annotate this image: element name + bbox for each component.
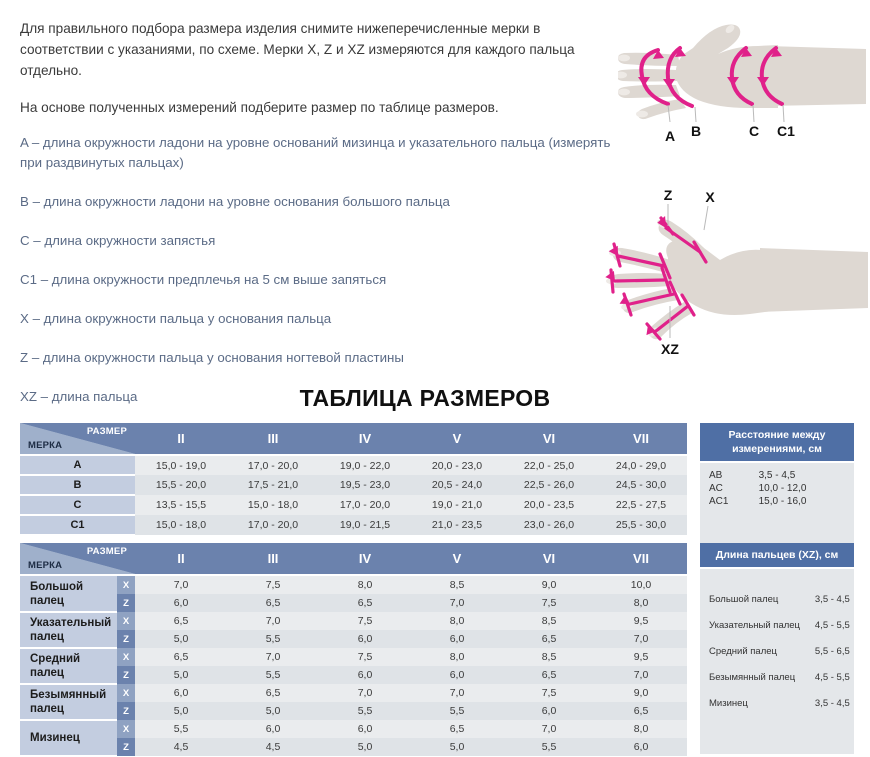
column-header-vi: VI — [503, 423, 595, 455]
diagram-label-c1: C1 — [777, 123, 795, 139]
cell-index-x-iv: 7,5 — [319, 612, 411, 630]
distance-between-measurements-panel: Расстояние между измерениями, см AB 3,5 … — [700, 423, 854, 545]
list-item: Безымянный палец 4,5 - 5,5 — [700, 664, 854, 690]
sublabel-z: Z — [117, 702, 135, 720]
finger-length-val-index: 4,5 - 5,5 — [811, 612, 854, 638]
row-label-a: A — [20, 455, 135, 475]
cell-thumb-x-v: 8,5 — [411, 575, 503, 594]
column-header-v: V — [411, 423, 503, 455]
list-item: AC1 15,0 - 16,0 — [700, 495, 854, 508]
diagram-label-c: C — [749, 123, 759, 139]
cell-middle-x-ii: 6,5 — [135, 648, 227, 666]
intro-paragraph-1: Для правильного подбора размера изделия … — [20, 18, 620, 81]
finger-length-panel-body: Большой палец 3,5 - 4,5 Указательный пал… — [700, 569, 854, 754]
sublabel-x: X — [117, 612, 135, 630]
corner-merka-label: МЕРКА — [28, 440, 62, 451]
hand-illustration-side-view — [618, 23, 866, 119]
distance-panel-body: AB 3,5 - 4,5 AC 10,0 - 12,0 AC1 15,0 - 1… — [700, 463, 854, 545]
column-header-iv: IV — [319, 423, 411, 455]
table-row: Мизинец X 5,5 6,0 6,0 6,5 7,0 8,0 — [20, 720, 687, 738]
row-label-middle: Средний палец — [20, 648, 117, 684]
cell-index-z-vii: 7,0 — [595, 630, 687, 648]
table-row: Z 5,0 5,0 5,5 5,5 6,0 6,5 — [20, 702, 687, 720]
finger-length-val-thumb: 3,5 - 4,5 — [811, 586, 854, 612]
distance-val-ac1: 15,0 - 16,0 — [755, 495, 854, 508]
row-label-c1: C1 — [20, 515, 135, 535]
cell-ring-z-iv: 5,5 — [319, 702, 411, 720]
cell-c-iv: 17,0 - 20,0 — [319, 495, 411, 515]
cell-thumb-z-iii: 6,5 — [227, 594, 319, 612]
cell-c-iii: 15,0 - 18,0 — [227, 495, 319, 515]
sublabel-z: Z — [117, 630, 135, 648]
cell-index-z-ii: 5,0 — [135, 630, 227, 648]
cell-b-v: 20,5 - 24,0 — [411, 475, 503, 495]
cell-thumb-x-vii: 10,0 — [595, 575, 687, 594]
cell-middle-z-v: 6,0 — [411, 666, 503, 684]
finger-length-key-ring: Безымянный палец — [700, 664, 811, 690]
cell-b-iii: 17,5 - 21,0 — [227, 475, 319, 495]
table-row: Z 4,5 4,5 5,0 5,0 5,5 6,0 — [20, 738, 687, 756]
cell-index-z-iv: 6,0 — [319, 630, 411, 648]
page-title: ТАБЛИЦА РАЗМЕРОВ — [0, 385, 860, 412]
diagram-label-b: B — [691, 123, 701, 139]
cell-middle-x-v: 8,0 — [411, 648, 503, 666]
cell-ring-x-vii: 9,0 — [595, 684, 687, 702]
cell-middle-x-vii: 9,5 — [595, 648, 687, 666]
column-header-vi: VI — [503, 543, 595, 575]
finger-length-val-ring: 4,5 - 5,5 — [811, 664, 854, 690]
cell-c1-vi: 23,0 - 26,0 — [503, 515, 595, 535]
table-row: Безымянный палец X 6,0 6,5 7,0 7,0 7,5 9… — [20, 684, 687, 702]
finger-length-val-pinky: 3,5 - 4,5 — [811, 690, 854, 716]
cell-middle-z-vi: 6,5 — [503, 666, 595, 684]
hand-diagram-circumference: A B C C1 — [618, 8, 868, 158]
definition-x: X – длина окружности пальца у основания … — [20, 309, 620, 329]
cell-c-v: 19,0 - 21,0 — [411, 495, 503, 515]
finger-length-key-index: Указательный палец — [700, 612, 811, 638]
cell-a-vii: 24,0 - 29,0 — [595, 455, 687, 475]
table-row: C1 15,0 - 18,0 17,0 - 20,0 19,0 - 21,5 2… — [20, 515, 687, 535]
list-item: Указательный палец 4,5 - 5,5 — [700, 612, 854, 638]
cell-ring-x-iv: 7,0 — [319, 684, 411, 702]
cell-c-vi: 20,0 - 23,5 — [503, 495, 595, 515]
row-label-thumb: Большой палец — [20, 575, 117, 612]
cell-thumb-z-iv: 6,5 — [319, 594, 411, 612]
finger-length-key-pinky: Мизинец — [700, 690, 811, 716]
finger-length-panel: Длина пальцев (XZ), см Большой палец 3,5… — [700, 543, 854, 754]
table-header-row: РАЗМЕР МЕРКА II III IV V VI VII — [20, 423, 687, 455]
cell-index-x-iii: 7,0 — [227, 612, 319, 630]
cell-middle-z-iii: 5,5 — [227, 666, 319, 684]
corner-size-label: РАЗМЕР — [87, 426, 127, 437]
table-row: Большой палец X 7,0 7,5 8,0 8,5 9,0 10,0 — [20, 575, 687, 594]
diagram-label-xz: XZ — [661, 341, 679, 357]
cell-pinky-z-iii: 4,5 — [227, 738, 319, 756]
cell-pinky-x-iv: 6,0 — [319, 720, 411, 738]
cell-pinky-x-v: 6,5 — [411, 720, 503, 738]
cell-ring-x-ii: 6,0 — [135, 684, 227, 702]
cell-pinky-z-ii: 4,5 — [135, 738, 227, 756]
sublabel-x: X — [117, 684, 135, 702]
table-header-row: РАЗМЕР МЕРКА II III IV V VI VII — [20, 543, 687, 575]
cell-ring-z-vii: 6,5 — [595, 702, 687, 720]
measurement-definitions-list: A – длина окружности ладони на уровне ос… — [20, 133, 620, 426]
hand-diagram-finger-lengths: Z X XZ — [600, 182, 870, 367]
cell-a-vi: 22,0 - 25,0 — [503, 455, 595, 475]
table-row: Z 5,0 5,5 6,0 6,0 6,5 7,0 — [20, 666, 687, 684]
distance-val-ab: 3,5 - 4,5 — [755, 469, 854, 482]
cell-thumb-z-ii: 6,0 — [135, 594, 227, 612]
size-table-main-grid: РАЗМЕР МЕРКА II III IV V VI VII A 15,0 -… — [20, 423, 687, 536]
diagram-label-x: X — [705, 189, 715, 205]
cell-b-vi: 22,5 - 26,0 — [503, 475, 595, 495]
corner-size-label: РАЗМЕР — [87, 546, 127, 557]
list-item: AB 3,5 - 4,5 — [700, 469, 854, 482]
column-header-v: V — [411, 543, 503, 575]
distance-key-ac: AC — [700, 482, 755, 495]
cell-thumb-x-iii: 7,5 — [227, 575, 319, 594]
cell-pinky-z-vi: 5,5 — [503, 738, 595, 756]
cell-a-iv: 19,0 - 22,0 — [319, 455, 411, 475]
sublabel-z: Z — [117, 594, 135, 612]
cell-index-z-vi: 6,5 — [503, 630, 595, 648]
table-row: Z 6,0 6,5 6,5 7,0 7,5 8,0 — [20, 594, 687, 612]
row-label-index: Указательный палец — [20, 612, 117, 648]
cell-thumb-x-iv: 8,0 — [319, 575, 411, 594]
cell-c1-vii: 25,5 - 30,0 — [595, 515, 687, 535]
cell-ring-x-iii: 6,5 — [227, 684, 319, 702]
cell-thumb-x-vi: 9,0 — [503, 575, 595, 594]
cell-pinky-x-iii: 6,0 — [227, 720, 319, 738]
column-header-iv: IV — [319, 543, 411, 575]
cell-ring-x-vi: 7,5 — [503, 684, 595, 702]
table-row: A 15,0 - 19,0 17,0 - 20,0 19,0 - 22,0 20… — [20, 455, 687, 475]
intro-paragraph-2: На основе полученных измерений подберите… — [20, 97, 620, 118]
cell-middle-z-ii: 5,0 — [135, 666, 227, 684]
cell-ring-x-v: 7,0 — [411, 684, 503, 702]
cell-index-z-v: 6,0 — [411, 630, 503, 648]
cell-middle-z-vii: 7,0 — [595, 666, 687, 684]
sublabel-z: Z — [117, 666, 135, 684]
cell-middle-z-iv: 6,0 — [319, 666, 411, 684]
column-header-iii: III — [227, 423, 319, 455]
sublabel-x: X — [117, 720, 135, 738]
table-row: Средний палец X 6,5 7,0 7,5 8,0 8,5 9,5 — [20, 648, 687, 666]
corner-merka-label: МЕРКА — [28, 560, 62, 571]
cell-index-x-v: 8,0 — [411, 612, 503, 630]
size-table-fingers-grid: РАЗМЕР МЕРКА II III IV V VI VII Большой … — [20, 543, 687, 757]
finger-length-panel-title: Длина пальцев (XZ), см — [700, 543, 854, 569]
definition-a: A – длина окружности ладони на уровне ос… — [20, 133, 620, 173]
cell-index-z-iii: 5,5 — [227, 630, 319, 648]
sublabel-z: Z — [117, 738, 135, 756]
list-item: Большой палец 3,5 - 4,5 — [700, 586, 854, 612]
table-row: Указательный палец X 6,5 7,0 7,5 8,0 8,5… — [20, 612, 687, 630]
cell-middle-x-iii: 7,0 — [227, 648, 319, 666]
list-item: Средний палец 5,5 - 6,5 — [700, 638, 854, 664]
cell-c1-iv: 19,0 - 21,5 — [319, 515, 411, 535]
sublabel-x: X — [117, 575, 135, 594]
definition-b: B – длина окружности ладони на уровне ос… — [20, 192, 620, 212]
size-table-main: РАЗМЕР МЕРКА II III IV V VI VII A 15,0 -… — [20, 423, 687, 536]
cell-pinky-z-iv: 5,0 — [319, 738, 411, 756]
cell-ring-z-v: 5,5 — [411, 702, 503, 720]
list-item: AC 10,0 - 12,0 — [700, 482, 854, 495]
distance-val-ac: 10,0 - 12,0 — [755, 482, 854, 495]
column-header-vii: VII — [595, 423, 687, 455]
distance-panel-title: Расстояние между измерениями, см — [700, 423, 854, 463]
cell-index-x-vii: 9,5 — [595, 612, 687, 630]
table-row: B 15,5 - 20,0 17,5 - 21,0 19,5 - 23,0 20… — [20, 475, 687, 495]
cell-a-ii: 15,0 - 19,0 — [135, 455, 227, 475]
table-row: Z 5,0 5,5 6,0 6,0 6,5 7,0 — [20, 630, 687, 648]
cell-pinky-z-vii: 6,0 — [595, 738, 687, 756]
definition-c1: C1 – длина окружности предплечья на 5 см… — [20, 270, 620, 290]
distance-key-ab: AB — [700, 469, 755, 482]
column-header-vii: VII — [595, 543, 687, 575]
cell-pinky-z-v: 5,0 — [411, 738, 503, 756]
cell-b-iv: 19,5 - 23,0 — [319, 475, 411, 495]
finger-length-key-middle: Средний палец — [700, 638, 811, 664]
distance-key-ac1: AC1 — [700, 495, 755, 508]
table-row: C 13,5 - 15,5 15,0 - 18,0 17,0 - 20,0 19… — [20, 495, 687, 515]
cell-pinky-x-vii: 8,0 — [595, 720, 687, 738]
cell-ring-z-iii: 5,0 — [227, 702, 319, 720]
cell-c1-ii: 15,0 - 18,0 — [135, 515, 227, 535]
cell-thumb-z-v: 7,0 — [411, 594, 503, 612]
table-corner-header: РАЗМЕР МЕРКА — [20, 423, 135, 455]
column-header-iii: III — [227, 543, 319, 575]
cell-c1-iii: 17,0 - 20,0 — [227, 515, 319, 535]
cell-c-vii: 22,5 - 27,5 — [595, 495, 687, 515]
diagram-label-z: Z — [664, 187, 673, 203]
list-item: Мизинец 3,5 - 4,5 — [700, 690, 854, 716]
row-label-pinky: Мизинец — [20, 720, 117, 756]
cell-c1-v: 21,0 - 23,5 — [411, 515, 503, 535]
finger-length-key-thumb: Большой палец — [700, 586, 811, 612]
cell-pinky-x-vi: 7,0 — [503, 720, 595, 738]
cell-ring-z-vi: 6,0 — [503, 702, 595, 720]
cell-pinky-x-ii: 5,5 — [135, 720, 227, 738]
row-label-b: B — [20, 475, 135, 495]
cell-c-ii: 13,5 - 15,5 — [135, 495, 227, 515]
diagram-label-a: A — [665, 128, 675, 144]
cell-middle-x-vi: 8,5 — [503, 648, 595, 666]
definition-z: Z – длина окружности пальца у основания … — [20, 348, 620, 368]
definition-c: C – длина окружности запястья — [20, 231, 620, 251]
cell-ring-z-ii: 5,0 — [135, 702, 227, 720]
table-corner-header: РАЗМЕР МЕРКА — [20, 543, 135, 575]
cell-thumb-x-ii: 7,0 — [135, 575, 227, 594]
column-header-ii: II — [135, 423, 227, 455]
finger-length-val-middle: 5,5 - 6,5 — [811, 638, 854, 664]
cell-b-vii: 24,5 - 30,0 — [595, 475, 687, 495]
row-label-ring: Безымянный палец — [20, 684, 117, 720]
size-table-fingers: РАЗМЕР МЕРКА II III IV V VI VII Большой … — [20, 543, 687, 757]
cell-middle-x-iv: 7,5 — [319, 648, 411, 666]
cell-a-iii: 17,0 - 20,0 — [227, 455, 319, 475]
cell-index-x-ii: 6,5 — [135, 612, 227, 630]
cell-b-ii: 15,5 - 20,0 — [135, 475, 227, 495]
cell-a-v: 20,0 - 23,0 — [411, 455, 503, 475]
row-label-c: C — [20, 495, 135, 515]
cell-thumb-z-vii: 8,0 — [595, 594, 687, 612]
hand-illustration-back-view — [606, 218, 868, 339]
sublabel-x: X — [117, 648, 135, 666]
intro-block: Для правильного подбора размера изделия … — [20, 18, 620, 134]
column-header-ii: II — [135, 543, 227, 575]
cell-thumb-z-vi: 7,5 — [503, 594, 595, 612]
cell-index-x-vi: 8,5 — [503, 612, 595, 630]
